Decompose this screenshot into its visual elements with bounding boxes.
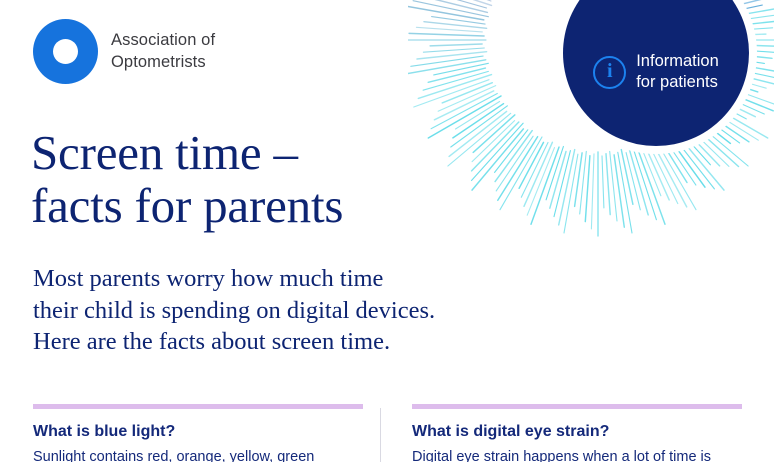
section-body: Sunlight contains red, orange, yellow, g… bbox=[33, 447, 358, 462]
information-for-patients-badge: i Information for patients bbox=[555, 0, 757, 154]
info-circle-icon: i bbox=[593, 56, 626, 89]
page-root: Association of Optometrists i Informatio… bbox=[0, 0, 774, 462]
logo-inner-hole bbox=[53, 39, 78, 64]
section-rule bbox=[412, 404, 742, 409]
section-body: Digital eye strain happens when a lot of… bbox=[412, 447, 756, 462]
badge-circle: i Information for patients bbox=[563, 0, 749, 146]
aop-ring-logo-icon bbox=[33, 19, 98, 84]
brand-name: Association of Optometrists bbox=[111, 30, 215, 72]
page-title: Screen time – facts for parents bbox=[31, 126, 451, 233]
page-subtitle: Most parents worry how much time their c… bbox=[33, 263, 503, 358]
section-heading: What is digital eye strain? bbox=[412, 422, 756, 441]
section-rule bbox=[33, 404, 363, 409]
section-heading: What is blue light? bbox=[33, 422, 358, 441]
section-digital-eye-strain: What is digital eye strain? Digital eye … bbox=[380, 404, 774, 462]
section-blue-light: What is blue light? Sunlight contains re… bbox=[0, 404, 380, 462]
badge-label: Information for patients bbox=[636, 51, 719, 92]
sections-row: What is blue light? Sunlight contains re… bbox=[0, 404, 774, 462]
brand-logo: Association of Optometrists bbox=[33, 19, 215, 84]
